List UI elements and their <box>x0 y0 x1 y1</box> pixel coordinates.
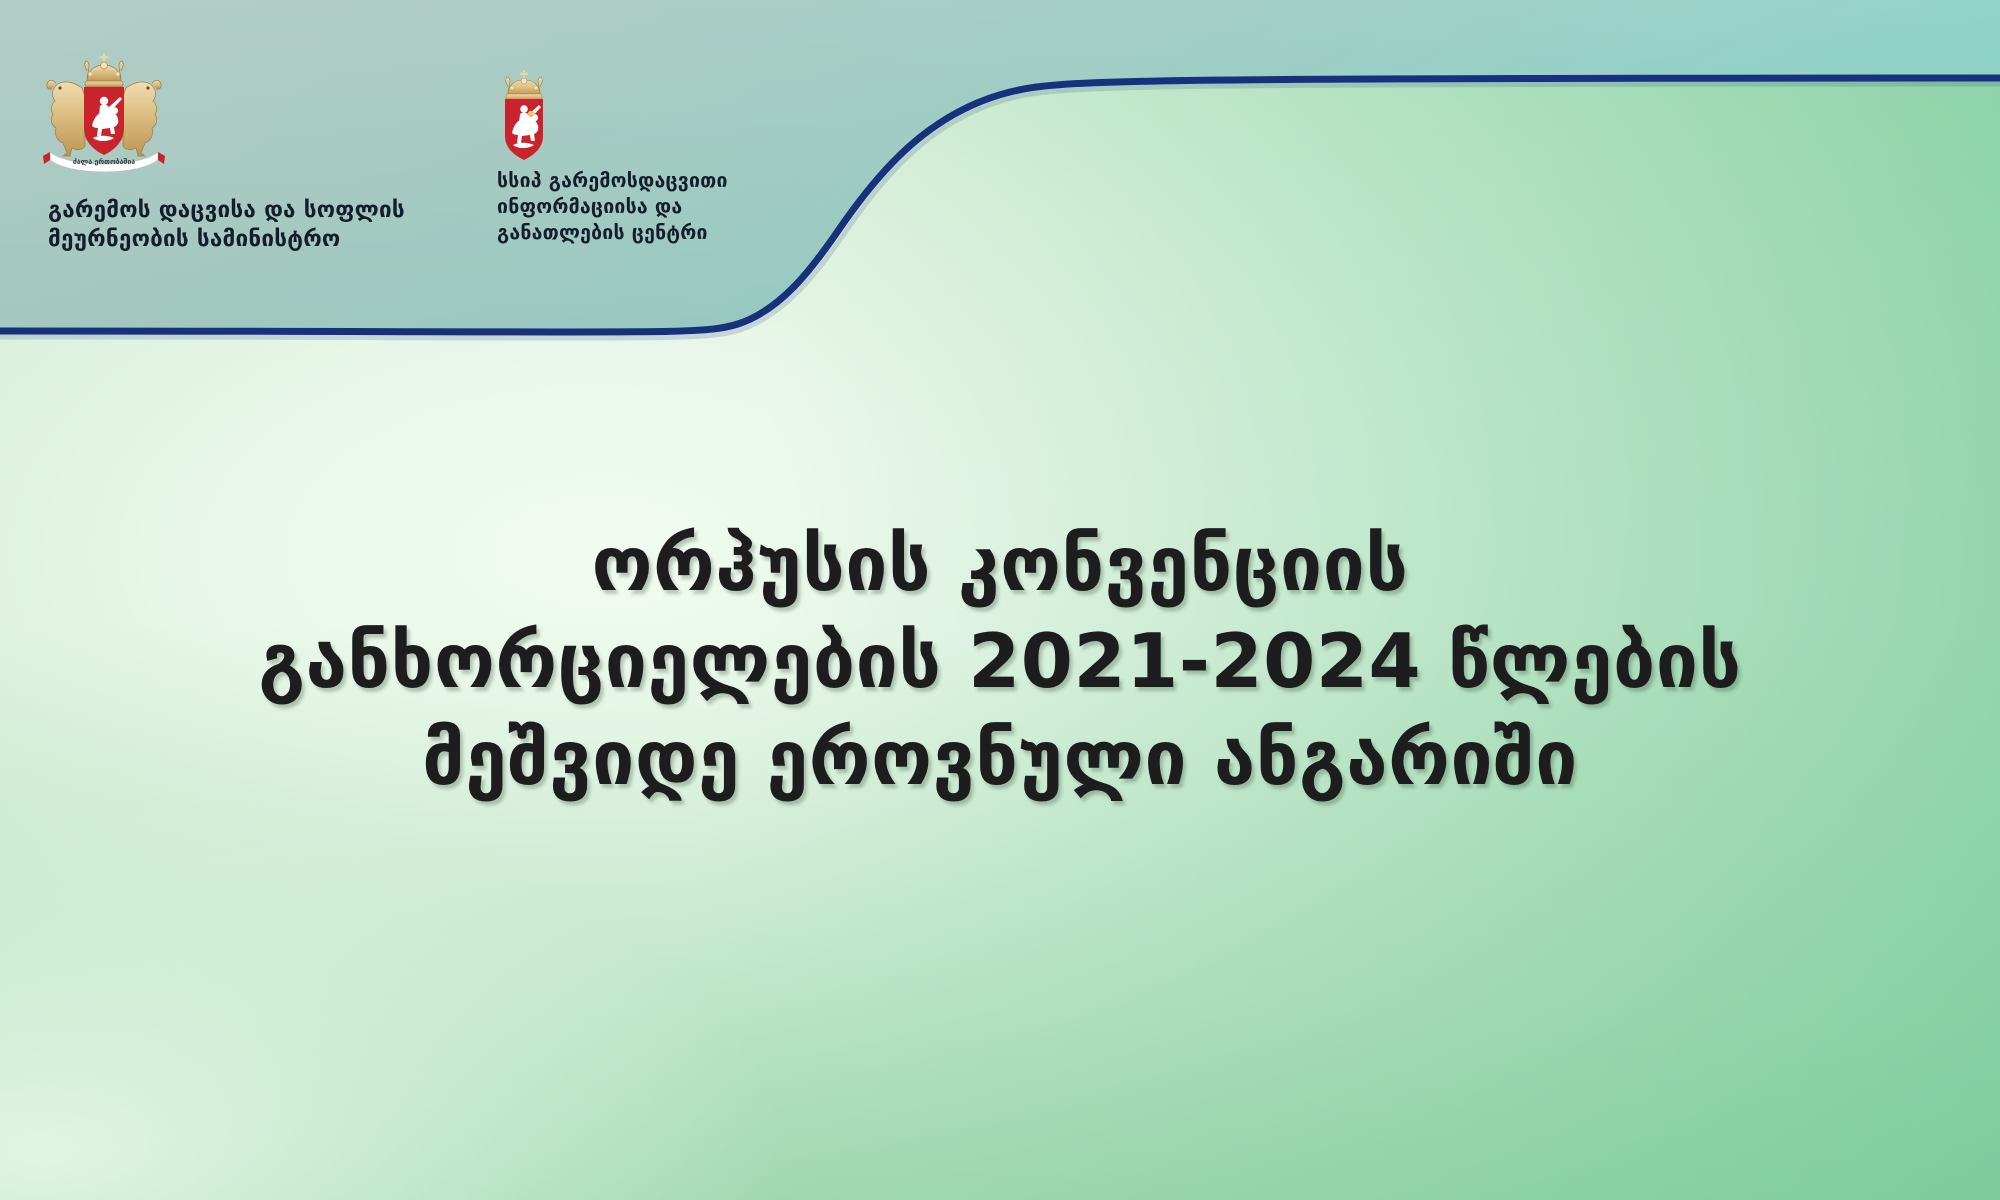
title-line-1: ორჰუსის კონვენციის <box>0 516 2000 613</box>
title-line-3: მეშვიდე ეროვნული ანგარიში <box>0 710 2000 807</box>
title-line-2: განხორციელების 2021-2024 წლების <box>0 613 2000 710</box>
motto-text: ძალა ერთობაშია <box>73 158 135 166</box>
red-shield-icon <box>84 87 124 155</box>
crowned-red-shield-emblem-icon <box>488 70 560 162</box>
crown-icon <box>85 54 124 87</box>
ministry-name-caption: გარემოს დაცვისა და სოფლის მეურნეობის სამ… <box>48 196 468 255</box>
center-name-caption: სსიპ გარემოსდაცვითი ინფორმაციისა და განა… <box>497 168 827 246</box>
organization-logos: ძალა ერთობაშია <box>0 0 900 300</box>
report-title: ორჰუსის კონვენციის განხორციელების 2021-2… <box>0 516 2000 806</box>
red-shield-icon <box>505 99 543 160</box>
crown-icon <box>506 71 543 100</box>
georgia-coat-of-arms-icon: ძალა ერთობაშია <box>38 52 170 174</box>
cover-slide: ძალა ერთობაშია <box>0 0 2000 1200</box>
